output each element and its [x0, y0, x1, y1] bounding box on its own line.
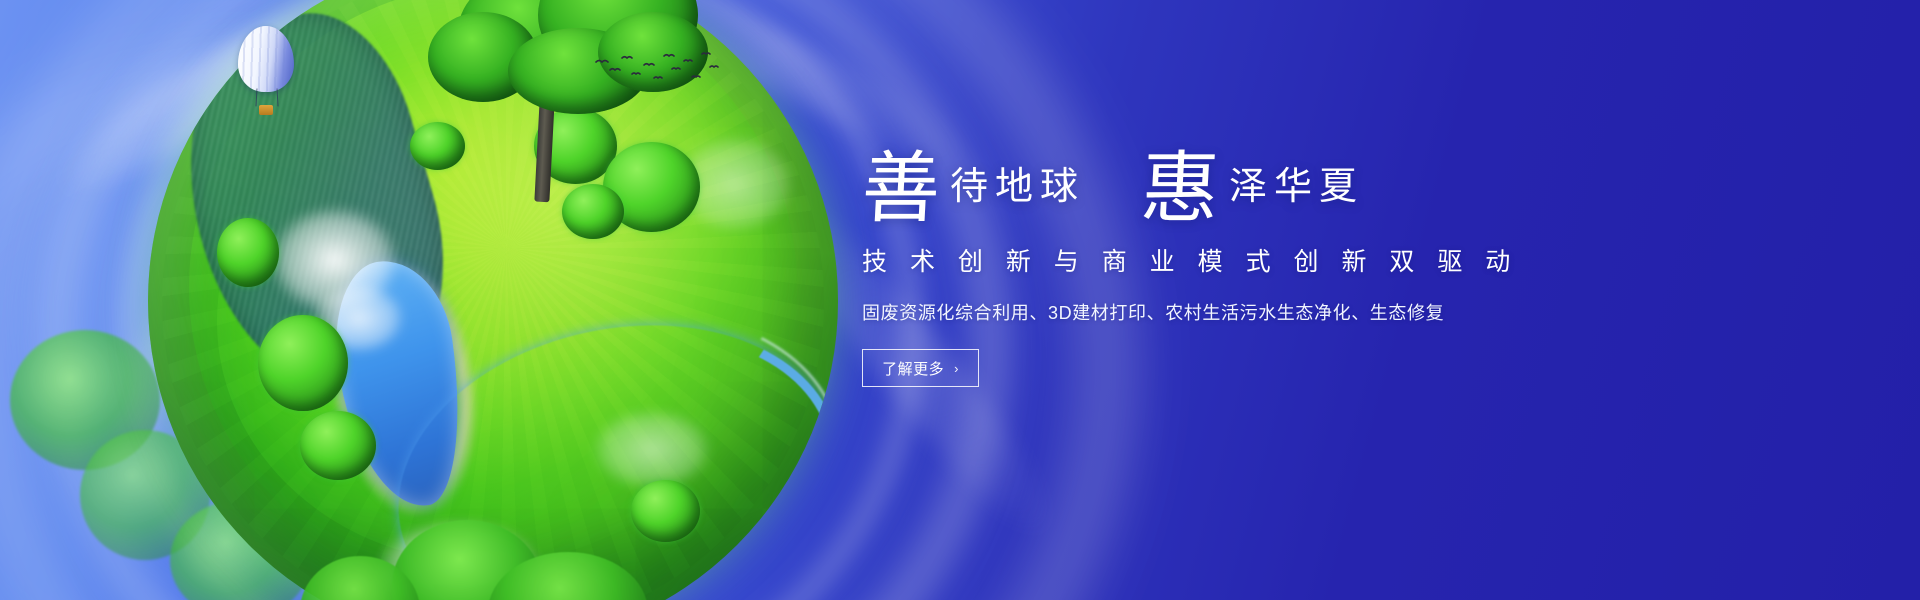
globe-cloud	[576, 398, 728, 502]
hot-air-balloon-icon	[238, 26, 294, 122]
tree-canopy	[534, 108, 617, 184]
globe-cloud	[300, 273, 417, 363]
rocky-ridge	[149, 0, 477, 416]
hero-banner: 善 待地球 惠 泽华夏 技 术 创 新 与 商 业 模 式 创 新 双 驱 动 …	[0, 0, 1920, 600]
balloon-ropes	[255, 88, 278, 106]
lake-shore	[301, 229, 506, 546]
cloud-streak	[175, 9, 445, 337]
headline-group-1: 善 待地球	[862, 146, 1085, 220]
globe-cloud	[659, 122, 811, 246]
description: 固废资源化综合利用、3D建材打印、农村生活污水生态净化、生态修复	[862, 299, 1562, 325]
chevron-right-icon: ›	[954, 361, 959, 376]
balloon-envelope	[238, 26, 294, 92]
tree-canopy	[562, 184, 624, 239]
tree-foliage	[428, 12, 538, 102]
tree-canopy	[410, 122, 465, 170]
subtitle: 技 术 创 新 与 商 业 模 式 创 新 双 驱 动	[862, 242, 1562, 278]
tree-canopy	[258, 315, 348, 412]
tree-canopy	[300, 411, 376, 480]
headline: 善 待地球 惠 泽华夏	[862, 120, 1562, 220]
grass-texture	[217, 80, 755, 563]
tree-foliage	[458, 0, 608, 92]
tree-canopy	[217, 218, 279, 287]
headline-rest-1: 待地球	[950, 168, 1085, 206]
lake	[324, 253, 475, 515]
birds-icon	[592, 48, 722, 92]
headline-rest-2: 泽华夏	[1229, 168, 1364, 206]
tree-canopy	[631, 480, 700, 542]
headline-accent-char-1: 善	[860, 152, 942, 226]
hero-content: 善 待地球 惠 泽华夏 技 术 创 新 与 商 业 模 式 创 新 双 驱 动 …	[862, 120, 1562, 387]
learn-more-button[interactable]: 了解更多 ›	[862, 349, 979, 387]
large-tree-icon	[418, 0, 718, 192]
learn-more-label: 了解更多	[882, 358, 944, 379]
tree-canopy	[603, 142, 700, 232]
balloon-basket	[259, 105, 273, 115]
tree-trunk	[534, 62, 556, 203]
headline-group-2: 惠 泽华夏	[1141, 146, 1364, 220]
globe-cloud	[252, 191, 418, 329]
headline-accent-char-2: 惠	[1139, 152, 1221, 226]
